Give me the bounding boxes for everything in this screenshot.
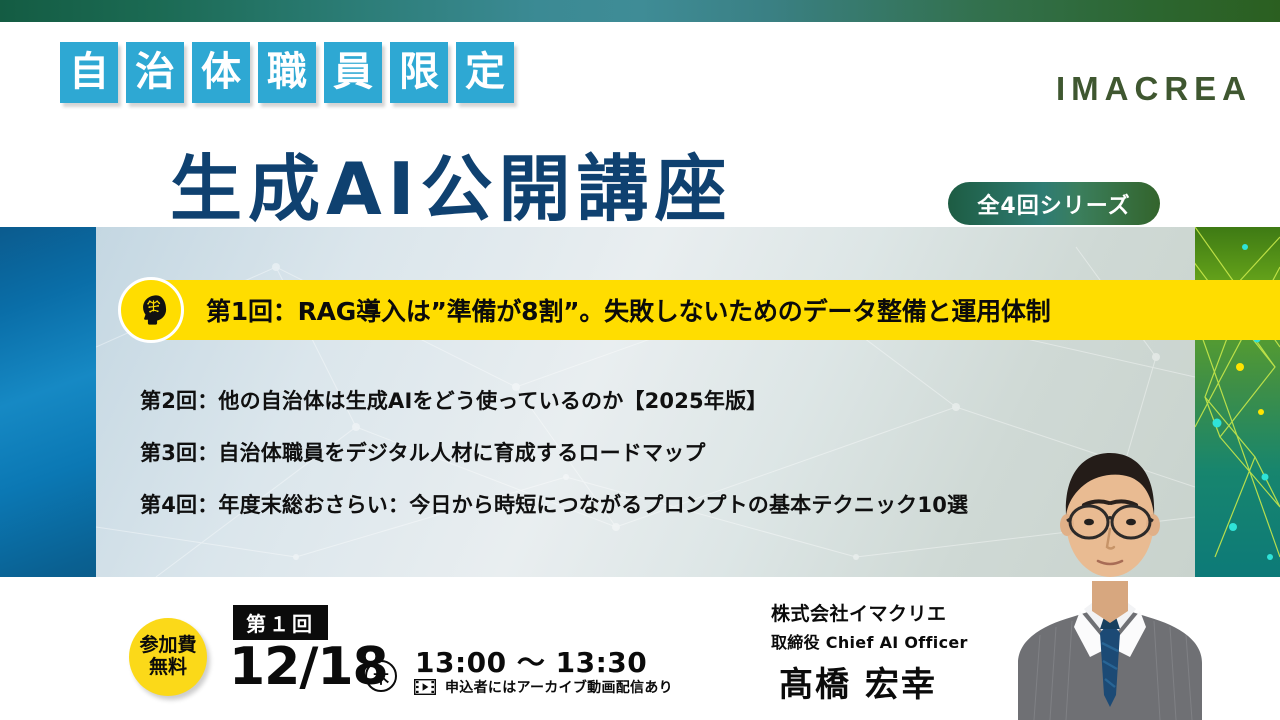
event-date: 12/18	[229, 637, 388, 697]
eyebrow-tag-char: 自	[60, 42, 118, 103]
speaker-photo	[1010, 395, 1210, 720]
eyebrow-tag-char: 治	[126, 42, 184, 103]
left-blue-accent-strip	[0, 227, 96, 622]
episode-tag: 第１回	[233, 605, 328, 640]
archive-note-row: 申込者にはアーカイブ動画配信あり	[414, 677, 673, 697]
featured-session-bar: 第1回：RAG導入は”準備が8割”。失敗しないためのデータ整備と運用体制	[150, 280, 1280, 340]
brain-head-icon	[118, 277, 184, 343]
day-of-week-badge: 木	[365, 660, 397, 692]
eyebrow-tag-char: 職	[258, 42, 316, 103]
eyebrow-tag-char: 限	[390, 42, 448, 103]
eyebrow-tag-char: 定	[456, 42, 514, 103]
top-gradient-bar	[0, 0, 1280, 22]
eyebrow-tag-char: 員	[324, 42, 382, 103]
event-time: 13:00 〜 13:30	[415, 641, 647, 681]
list-item: 第4回：年度末総おさらい：今日から時短につながるプロンプトの基本テクニック10選	[140, 489, 1100, 519]
free-badge-line2: 無料	[149, 657, 187, 679]
list-item: 第3回：自治体職員をデジタル人材に育成するロードマップ	[140, 437, 1100, 467]
film-play-icon	[414, 679, 436, 695]
free-badge-line1: 参加費	[139, 635, 196, 657]
archive-note: 申込者にはアーカイブ動画配信あり	[445, 677, 673, 697]
brand-logo: IMACREA	[1056, 70, 1252, 108]
featured-session-title: 第1回：RAG導入は”準備が8割”。失敗しないためのデータ整備と運用体制	[206, 292, 1051, 328]
speaker-role: 取締役 Chief AI Officer	[771, 629, 968, 653]
free-admission-badge: 参加費 無料	[129, 618, 207, 696]
page-title: 生成AI公開講座	[170, 130, 733, 235]
eyebrow-tag-char: 体	[192, 42, 250, 103]
speaker-name: 髙橋 宏幸	[779, 657, 937, 706]
eyebrow-tag-group: 自 治 体 職 員 限 定	[60, 42, 514, 103]
series-badge: 全4回シリーズ	[948, 182, 1160, 225]
speaker-company: 株式会社イマクリエ	[771, 599, 947, 626]
session-list: 第2回：他の自治体は生成AIをどう使っているのか【2025年版】 第3回：自治体…	[140, 385, 1100, 541]
list-item: 第2回：他の自治体は生成AIをどう使っているのか【2025年版】	[140, 385, 1100, 415]
header: 自 治 体 職 員 限 定 IMACREA 生成AI公開講座 全4回シリーズ	[0, 22, 1280, 227]
